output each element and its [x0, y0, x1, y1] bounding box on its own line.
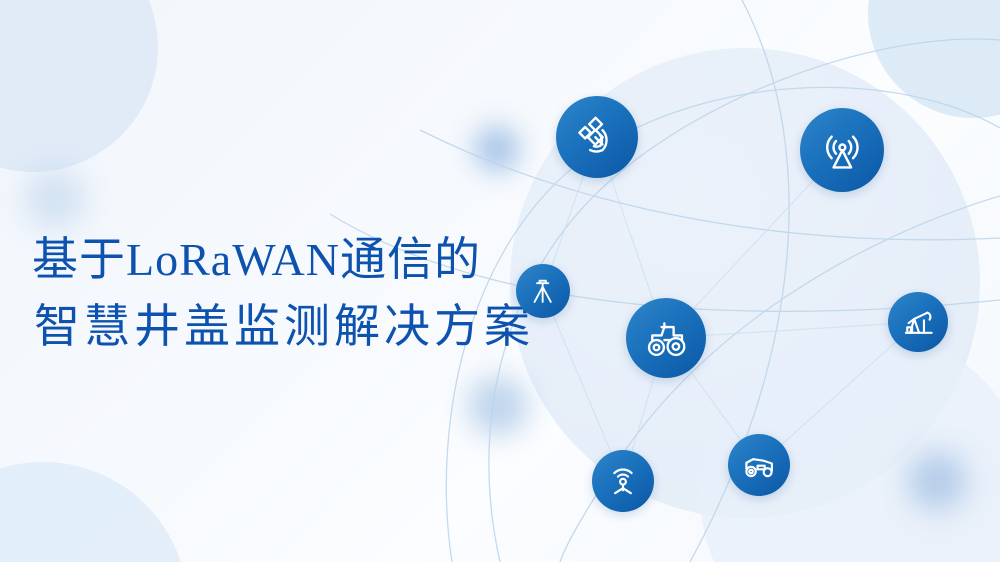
- node-radio-tower[interactable]: [800, 108, 884, 192]
- title-slide: 基于LoRaWAN通信的 智慧井盖监测解决方案: [0, 0, 1000, 562]
- corner-circle-top-right: [868, 0, 1000, 118]
- tractor-icon: [643, 315, 689, 361]
- glow-dot-left: [24, 168, 86, 230]
- node-oil-pump[interactable]: [888, 292, 948, 352]
- satellite-signal-icon: [573, 113, 621, 161]
- page-title: 基于LoRaWAN通信的 智慧井盖监测解决方案: [32, 226, 592, 360]
- node-wifi-beacon[interactable]: [592, 450, 654, 512]
- glow-dot-upper: [474, 126, 520, 172]
- harvester-icon: [741, 447, 777, 483]
- wifi-beacon-icon: [605, 463, 641, 499]
- node-satellite[interactable]: [556, 96, 638, 178]
- radio-tower-icon: [818, 126, 867, 175]
- glow-dot-lower-right: [908, 452, 966, 510]
- corner-circle-top-left: [0, 0, 158, 172]
- title-line-1: 基于LoRaWAN通信的: [32, 226, 592, 293]
- glow-dot-center: [468, 376, 528, 436]
- oil-pump-icon: [901, 305, 936, 340]
- node-survey-tripod[interactable]: [516, 264, 570, 318]
- node-harvester[interactable]: [728, 434, 790, 496]
- title-line-2: 智慧井盖监测解决方案: [32, 293, 592, 360]
- corner-circle-bottom-left: [0, 462, 188, 562]
- survey-tripod-icon: [527, 275, 558, 306]
- node-tractor[interactable]: [626, 298, 706, 378]
